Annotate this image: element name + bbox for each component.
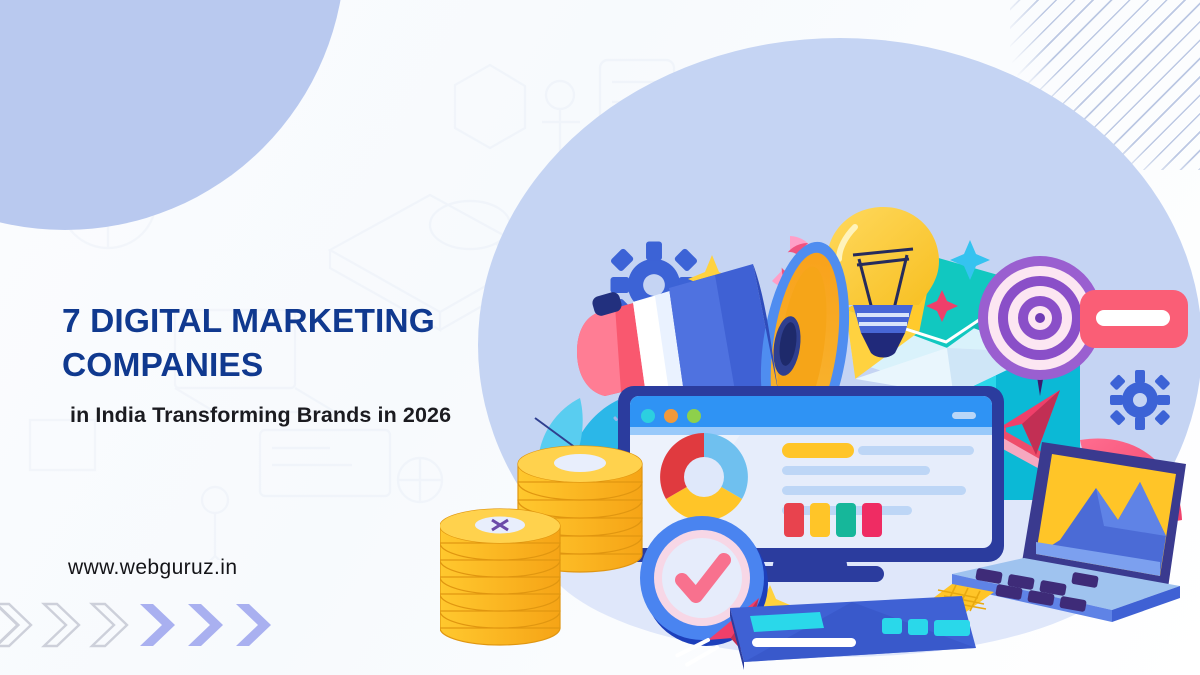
- headline-line-2: COMPANIES: [62, 344, 582, 388]
- chevron-right-icon: [0, 600, 38, 650]
- chevron-arrow-group: [0, 600, 278, 650]
- page-title: 7 DIGITAL MARKETING COMPANIES: [62, 300, 582, 388]
- headline-line-1: 7 DIGITAL MARKETING: [62, 300, 582, 344]
- chevron-right-icon: [40, 600, 86, 650]
- website-url: www.webguruz.in: [68, 556, 237, 580]
- chevron-right-icon-filled: [136, 600, 182, 650]
- page-subtitle: in India Transforming Brands in 2026: [70, 403, 451, 428]
- banner-root: 7 DIGITAL MARKETING COMPANIES in India T…: [0, 0, 1200, 675]
- chevron-right-icon-filled: [184, 600, 230, 650]
- chevron-right-icon: [88, 600, 134, 650]
- chevron-right-icon-filled: [232, 600, 278, 650]
